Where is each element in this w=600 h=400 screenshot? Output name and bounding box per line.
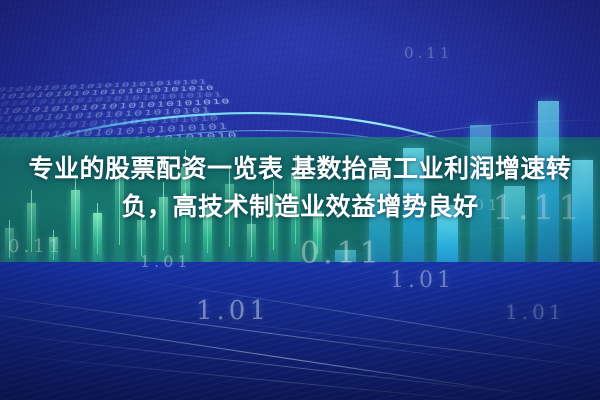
banner-image: 0101010101010101010101010101101010101010… (0, 0, 600, 400)
headline-line-2: 负，高技术制造业效益增势良好 (10, 188, 590, 226)
headline-line-1: 专业的股票配资一览表 基数抬高工业利润增速转 (10, 150, 590, 188)
headline-block: 专业的股票配资一览表 基数抬高工业利润增速转 负，高技术制造业效益增势良好 (0, 150, 600, 226)
